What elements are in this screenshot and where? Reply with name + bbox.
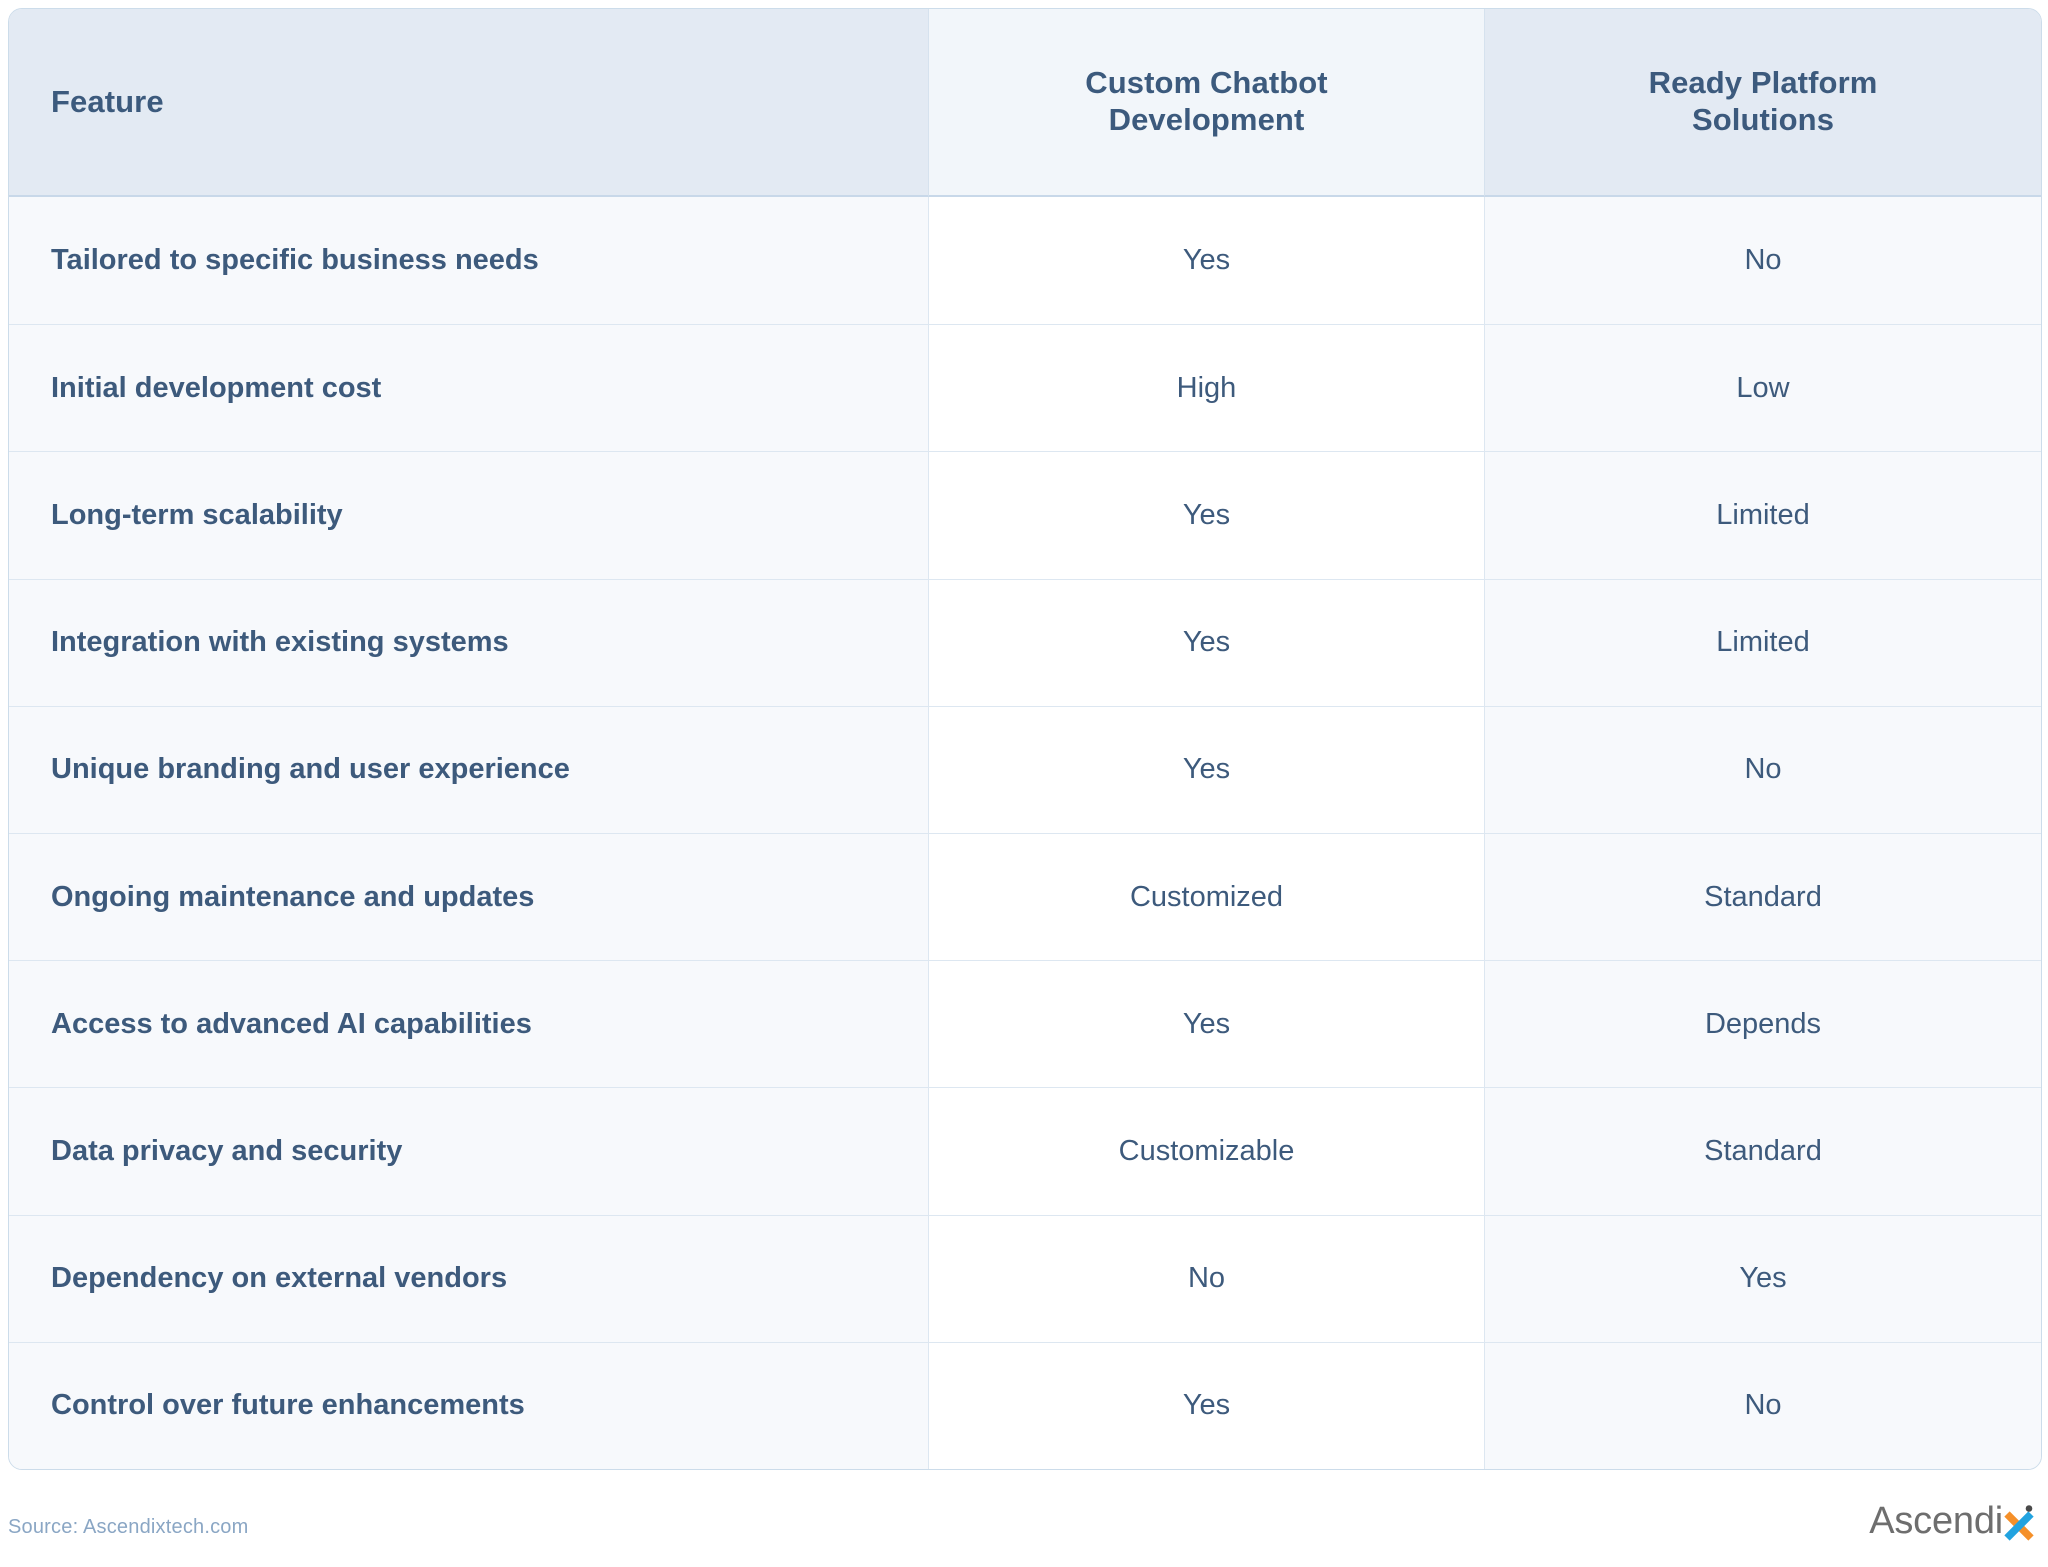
column-header-ready-line1: Ready Platform [1649, 65, 1878, 100]
feature-cell: Initial development cost [9, 324, 928, 451]
ascendix-logo: Ascendi [1869, 1498, 2034, 1544]
table-row: Ongoing maintenance and updates Customiz… [9, 833, 2041, 960]
table-body: Tailored to specific business needs Yes … [9, 197, 2041, 1469]
source-attribution: Source: Ascendixtech.com [8, 1516, 248, 1539]
custom-value-cell: Yes [928, 706, 1485, 833]
table-row: Long-term scalability Yes Limited [9, 451, 2041, 578]
ready-value-cell: No [1485, 706, 2041, 833]
custom-value-cell: Yes [928, 579, 1485, 706]
table-row: Control over future enhancements Yes No [9, 1342, 2041, 1469]
table-row: Unique branding and user experience Yes … [9, 706, 2041, 833]
ready-value-cell: No [1485, 197, 2041, 324]
table-header-row: Feature Custom Chatbot Development Ready… [9, 9, 2041, 197]
feature-cell: Data privacy and security [9, 1087, 928, 1214]
feature-cell: Unique branding and user experience [9, 706, 928, 833]
feature-cell: Dependency on external vendors [9, 1215, 928, 1342]
ready-value-cell: Depends [1485, 960, 2041, 1087]
custom-value-cell: Customized [928, 833, 1485, 960]
ready-value-cell: Low [1485, 324, 2041, 451]
ready-value-cell: Limited [1485, 451, 2041, 578]
table-row: Tailored to specific business needs Yes … [9, 197, 2041, 324]
feature-cell: Access to advanced AI capabilities [9, 960, 928, 1087]
comparison-table: Feature Custom Chatbot Development Ready… [8, 8, 2042, 1470]
ascendix-logo-text: Ascendi [1869, 1502, 2003, 1540]
table-row: Initial development cost High Low [9, 324, 2041, 451]
column-header-custom-line2: Development [1109, 102, 1305, 137]
table-header: Feature Custom Chatbot Development Ready… [9, 9, 2041, 197]
feature-cell: Integration with existing systems [9, 579, 928, 706]
column-header-feature-label: Feature [51, 84, 164, 119]
custom-value-cell: No [928, 1215, 1485, 1342]
column-header-custom-chatbot-development: Custom Chatbot Development [928, 9, 1485, 197]
custom-value-cell: Yes [928, 960, 1485, 1087]
column-header-feature: Feature [9, 9, 928, 197]
ready-value-cell: Standard [1485, 833, 2041, 960]
column-header-ready-platform-solutions: Ready Platform Solutions [1485, 9, 2041, 197]
custom-value-cell: Yes [928, 197, 1485, 324]
column-header-ready-line2: Solutions [1692, 102, 1834, 137]
table-row: Integration with existing systems Yes Li… [9, 579, 2041, 706]
feature-cell: Long-term scalability [9, 451, 928, 578]
custom-value-cell: High [928, 324, 1485, 451]
custom-value-cell: Yes [928, 451, 1485, 578]
source-label: Source: [8, 1516, 78, 1538]
feature-cell: Control over future enhancements [9, 1342, 928, 1469]
ready-value-cell: No [1485, 1342, 2041, 1469]
comparison-table-page: Feature Custom Chatbot Development Ready… [0, 0, 2048, 1567]
custom-value-cell: Customizable [928, 1087, 1485, 1214]
feature-cell: Ongoing maintenance and updates [9, 833, 928, 960]
footer: Source: Ascendixtech.com Ascendi [0, 1470, 2048, 1567]
comparison-table-container: Feature Custom Chatbot Development Ready… [8, 8, 2040, 1470]
ready-value-cell: Standard [1485, 1087, 2041, 1214]
custom-value-cell: Yes [928, 1342, 1485, 1469]
table-row: Data privacy and security Customizable S… [9, 1087, 2041, 1214]
table-row: Dependency on external vendors No Yes [9, 1215, 2041, 1342]
feature-cell: Tailored to specific business needs [9, 197, 928, 324]
ascendix-logo-x-mark [2004, 1505, 2034, 1541]
ready-value-cell: Limited [1485, 579, 2041, 706]
ready-value-cell: Yes [1485, 1215, 2041, 1342]
column-header-custom-line1: Custom Chatbot [1085, 65, 1327, 100]
table-row: Access to advanced AI capabilities Yes D… [9, 960, 2041, 1087]
source-value: Ascendixtech.com [83, 1516, 249, 1538]
